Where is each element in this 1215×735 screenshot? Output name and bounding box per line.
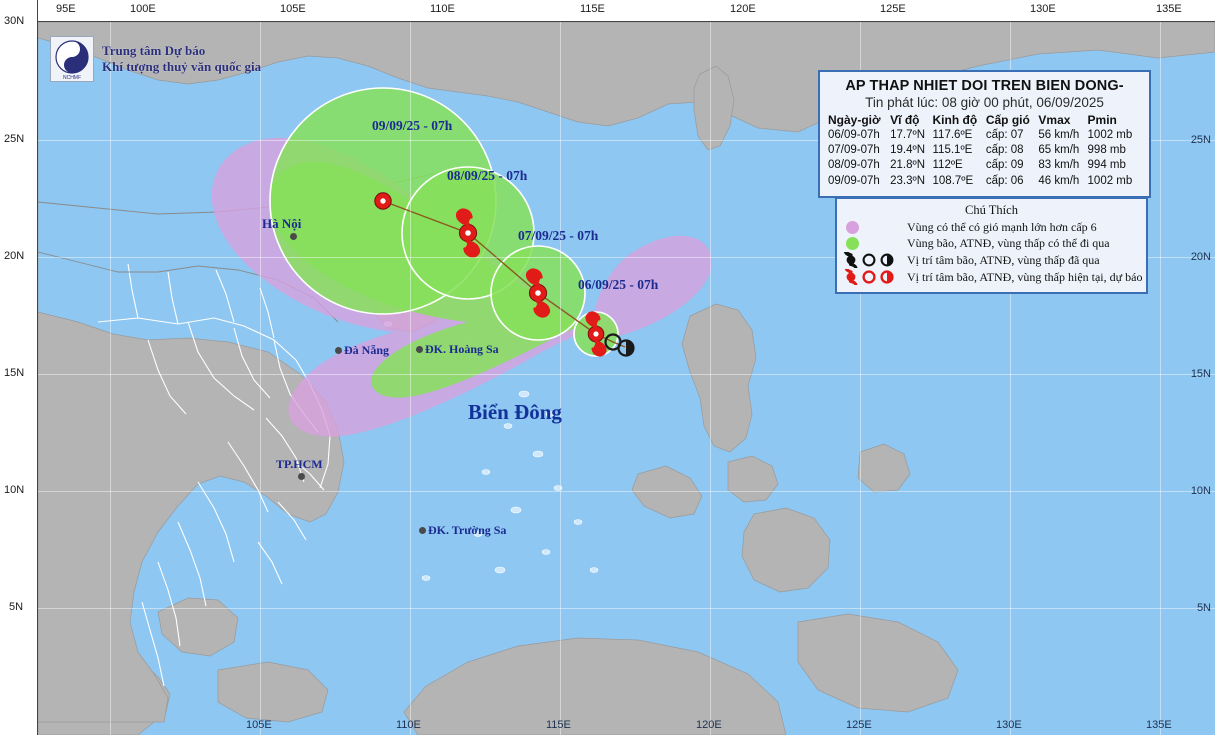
storm-symbol-09-09 [375, 193, 391, 209]
cell-latitude: 23.3ºN [890, 174, 932, 189]
place-dot-hoang-sa [416, 346, 423, 353]
legend-symbol-green [843, 237, 901, 250]
place-dot-ha-noi [290, 233, 297, 240]
agency-name-line2: Khí tượng thuỷ văn quốc gia [102, 59, 261, 75]
gridline-10n [38, 491, 1215, 492]
axis-top: 95E 100E 105E 110E 115E 120E 125E 130E 1… [38, 0, 1215, 22]
table-row: 09/09-07h 23.3ºN 108.7ºE cấp: 06 46 km/h… [828, 174, 1141, 189]
lon-tick-105e: 105E [280, 3, 306, 15]
place-dot-tphcm [298, 473, 305, 480]
cell-datetime: 06/09-07h [828, 128, 890, 143]
black-storm-glyphs-icon [843, 252, 899, 268]
cell-datetime: 09/09-07h [828, 174, 890, 189]
lon-tick-95e: 95E [56, 3, 76, 15]
lat-tick-30n: 30N [4, 15, 24, 27]
place-name-hoang-sa: ĐK. Hoàng Sa [425, 342, 499, 356]
legend-symbol-black-group [843, 252, 901, 268]
table-row: 07/09-07h 19.4ºN 115.1ºE cấp: 08 65 km/h… [828, 143, 1141, 158]
cell-latitude: 17.7ºN [890, 128, 932, 143]
agency-logo-block: NCHMF Trung tâm Dự báo Khí tượng thuỷ vă… [50, 36, 261, 82]
agency-name-line1: Trung tâm Dự báo [102, 43, 261, 59]
place-label-truong-sa: ĐK. Trường Sa [428, 523, 506, 538]
table-row: 06/09-07h 17.7ºN 117.6ºE cấp: 07 56 km/h… [828, 128, 1141, 143]
place-name-ha-noi: Hà Nội [262, 216, 301, 231]
forecast-table: Ngày-giờ Vĩ độ Kinh độ Cấp gió Vmax Pmin… [828, 113, 1141, 189]
place-label-tphcm: TP.HCM [276, 457, 323, 472]
inner-lon-135e: 135E [1146, 719, 1172, 731]
cell-pmin: 1002 mb [1088, 174, 1141, 189]
forecast-table-header-row: Ngày-giờ Vĩ độ Kinh độ Cấp gió Vmax Pmin [828, 113, 1141, 128]
col-pmin: Pmin [1088, 113, 1141, 128]
track-label-06-09: 06/09/25 - 07h [578, 277, 658, 293]
lat-tick-15n: 15N [4, 367, 24, 379]
gridline-15n [38, 374, 1215, 375]
place-name-truong-sa: ĐK. Trường Sa [428, 523, 506, 537]
legend-symbol-purple [843, 221, 901, 234]
col-longitude: Kinh độ [933, 113, 986, 128]
cell-vmax: 83 km/h [1038, 158, 1087, 173]
storm-info-issued-time: Tin phát lúc: 08 giờ 00 phút, 06/09/2025 [828, 95, 1141, 110]
place-label-hoang-sa: ĐK. Hoàng Sa [425, 342, 499, 357]
gridline-5n [38, 608, 1215, 609]
lon-tick-120e: 120E [730, 3, 756, 15]
legend-title: Chú Thích [843, 203, 1140, 218]
cell-pmin: 994 mb [1088, 158, 1141, 173]
lat-tick-10n: 10N [4, 484, 24, 496]
red-storm-glyphs-icon [843, 269, 899, 285]
legend-text-current-positions: Vị trí tâm bão, ATNĐ, vùng thấp hiện tại… [907, 270, 1142, 285]
inner-lat-25n: 25N [1191, 134, 1211, 146]
place-name-da-nang: Đà Nẵng [344, 343, 389, 357]
purple-swatch-icon [846, 221, 859, 234]
col-wind-level: Cấp gió [986, 113, 1039, 128]
inner-lon-130e: 130E [996, 719, 1022, 731]
cell-pmin: 1002 mb [1088, 128, 1141, 143]
legend-item-current-positions: Vị trí tâm bão, ATNĐ, vùng thấp hiện tại… [843, 269, 1140, 285]
lat-tick-5n: 5N [9, 601, 23, 613]
inner-lon-120e: 120E [696, 719, 722, 731]
inner-lon-105e: 105E [246, 719, 272, 731]
col-vmax: Vmax [1038, 113, 1087, 128]
nchmf-logo-icon: NCHMF [50, 36, 94, 82]
lon-tick-115e: 115E [580, 3, 605, 15]
legend-text-path-area: Vùng bão, ATNĐ, vùng thấp có thể đi qua [907, 236, 1110, 251]
agency-name: Trung tâm Dự báo Khí tượng thuỷ văn quốc… [102, 43, 261, 76]
gridline-105e [260, 22, 261, 735]
sea-label-bien-dong: Biển Đông [468, 400, 562, 425]
legend-text-past-positions: Vị trí tâm bão, ATNĐ, vùng thấp đã qua [907, 253, 1100, 268]
place-dot-truong-sa [419, 527, 426, 534]
legend-panel: Chú Thích Vùng có thể có gió mạnh lớn hơ… [835, 197, 1148, 294]
track-label-09-09: 09/09/25 - 07h [372, 118, 452, 134]
inner-lon-110e: 110E [396, 719, 421, 731]
cell-wind-level: cấp: 06 [986, 174, 1039, 189]
place-dot-da-nang [335, 347, 342, 354]
cell-vmax: 65 km/h [1038, 143, 1087, 158]
cell-latitude: 21.8ºN [890, 158, 932, 173]
lat-tick-20n: 20N [4, 250, 24, 262]
lon-tick-135e: 135E [1156, 3, 1182, 15]
gridline-120e [710, 22, 711, 735]
table-row: 08/09-07h 21.8ºN 112ºE cấp: 09 83 km/h 9… [828, 158, 1141, 173]
legend-item-wind-area: Vùng có thể có gió mạnh lớn hơn cấp 6 [843, 220, 1140, 235]
cell-longitude: 108.7ºE [933, 174, 986, 189]
lon-tick-110e: 110E [430, 3, 455, 15]
cell-longitude: 112ºE [933, 158, 986, 173]
lon-tick-130e: 130E [1030, 3, 1056, 15]
cell-vmax: 46 km/h [1038, 174, 1087, 189]
place-name-tphcm: TP.HCM [276, 457, 323, 471]
legend-item-path-area: Vùng bão, ATNĐ, vùng thấp có thể đi qua [843, 236, 1140, 251]
gridline-115e [560, 22, 561, 735]
col-datetime: Ngày-giờ [828, 113, 890, 128]
track-label-07-09: 07/09/25 - 07h [518, 228, 598, 244]
lon-tick-100e: 100E [130, 3, 156, 15]
legend-item-past-positions: Vị trí tâm bão, ATNĐ, vùng thấp đã qua [843, 252, 1140, 268]
cell-datetime: 08/09-07h [828, 158, 890, 173]
legend-text-wind-area: Vùng có thể có gió mạnh lớn hơn cấp 6 [907, 220, 1097, 235]
lon-tick-125e: 125E [880, 3, 906, 15]
gridline-100e [110, 22, 111, 735]
inner-lat-10n: 10N [1191, 485, 1211, 497]
cell-longitude: 115.1ºE [933, 143, 986, 158]
gridline-135e [1160, 22, 1161, 735]
inner-lat-15n: 15N [1191, 368, 1211, 380]
cell-wind-level: cấp: 07 [986, 128, 1039, 143]
cell-pmin: 998 mb [1088, 143, 1141, 158]
inner-lat-5n: 5N [1197, 602, 1211, 614]
col-latitude: Vĩ độ [890, 113, 932, 128]
svg-text:NCHMF: NCHMF [63, 75, 81, 81]
axis-left: 30N 25N 20N 15N 10N 5N [0, 0, 38, 735]
cell-wind-level: cấp: 09 [986, 158, 1039, 173]
place-label-ha-noi: Hà Nội [262, 216, 301, 232]
cell-datetime: 07/09-07h [828, 143, 890, 158]
inner-lon-115e: 115E [546, 719, 571, 731]
cell-wind-level: cấp: 08 [986, 143, 1039, 158]
storm-info-panel: AP THAP NHIET DOI TREN BIEN DONG- Tin ph… [818, 70, 1151, 198]
cell-longitude: 117.6ºE [933, 128, 986, 143]
track-label-08-09: 08/09/25 - 07h [447, 168, 527, 184]
inner-lat-20n: 20N [1191, 251, 1211, 263]
green-swatch-icon [846, 237, 859, 250]
lat-tick-25n: 25N [4, 133, 24, 145]
typhoon-track-map: 25N 20N 15N 10N 5N 105E 110E 115E 120E 1… [0, 0, 1215, 735]
legend-symbol-red-group [843, 269, 901, 285]
storm-info-title: AP THAP NHIET DOI TREN BIEN DONG- [828, 78, 1141, 94]
cell-latitude: 19.4ºN [890, 143, 932, 158]
inner-lon-125e: 125E [846, 719, 872, 731]
place-label-da-nang: Đà Nẵng [344, 343, 389, 358]
cell-vmax: 56 km/h [1038, 128, 1087, 143]
